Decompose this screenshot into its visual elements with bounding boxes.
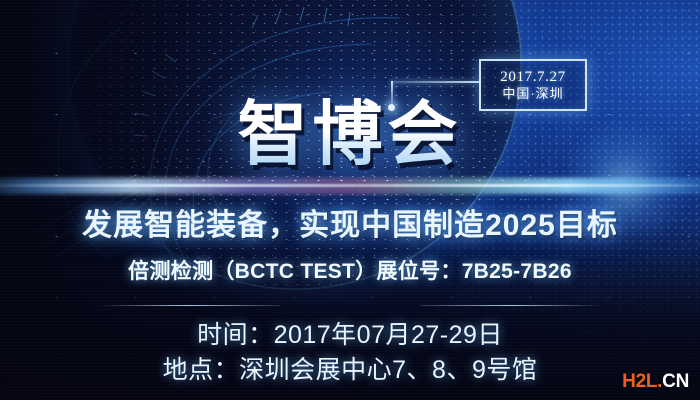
- event-place: 地点：深圳会展中心7、8、9号馆: [0, 353, 700, 387]
- site-watermark: H2L.CN: [622, 372, 689, 391]
- event-subtitle: 发展智能装备，实现中国制造2025目标: [0, 206, 700, 246]
- divider-left: [98, 305, 280, 306]
- event-title: 智博会: [0, 97, 700, 171]
- exhibitor-booth: 倍测检测（BCTC TEST）展位号：7B25-7B26: [0, 256, 700, 288]
- badge-date-text: 2017.7.27: [500, 70, 565, 86]
- event-time: 时间：2017年07月27-29日: [0, 318, 700, 352]
- watermark-brand: H2L.: [622, 371, 662, 392]
- event-banner: 2017.7.27 中国·深圳 智博会 发展智能装备，实现中国制造2025目标 …: [0, 0, 700, 400]
- badge-connector-line: [391, 81, 479, 83]
- divider-right: [420, 305, 602, 306]
- watermark-tld: CN: [662, 371, 689, 392]
